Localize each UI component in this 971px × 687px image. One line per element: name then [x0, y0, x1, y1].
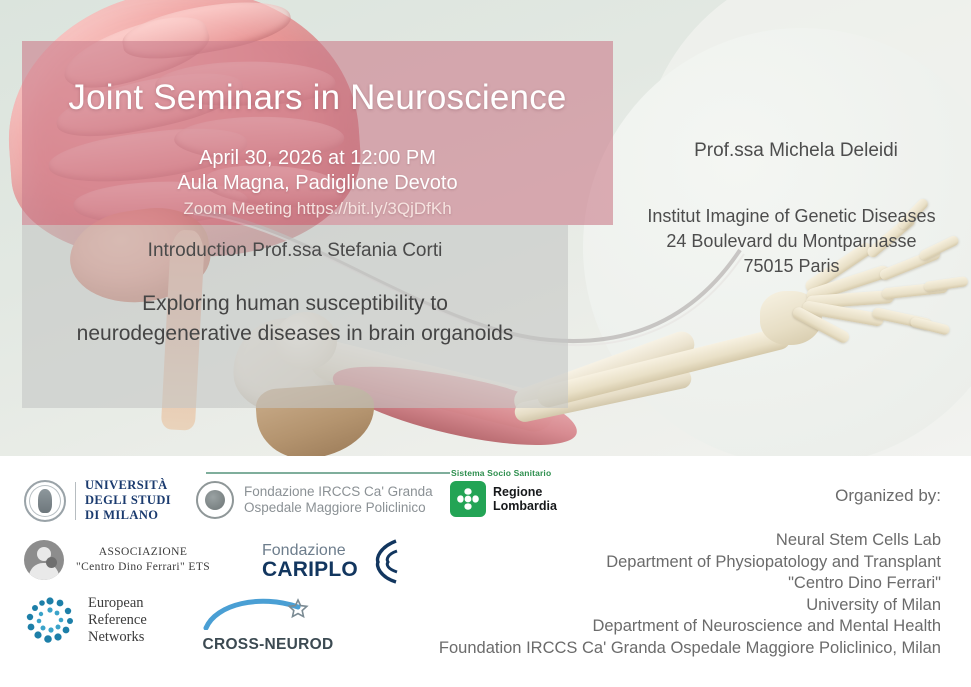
zoom-meeting-link[interactable]: Zoom Meeting https://bit.ly/3QjDfKh	[22, 199, 613, 219]
policlinico-label: Fondazione IRCCS Ca' Granda Ospedale Mag…	[244, 484, 433, 516]
ern-spiral-icon	[24, 594, 76, 646]
organized-by-label: Organized by:	[835, 486, 941, 506]
unimi-line-3: DI MILANO	[85, 508, 171, 523]
regione-lombardia-label: Regione Lombardia	[493, 485, 557, 513]
logo-centro-dino-ferrari: ASSOCIAZIONE "Centro Dino Ferrari" ETS	[24, 540, 210, 580]
hero-banner: Joint Seminars in Neuroscience April 30,…	[0, 0, 971, 456]
unimi-seal-icon	[24, 480, 66, 522]
introduction-speaker: Introduction Prof.ssa Stefania Corti	[22, 240, 568, 262]
talk-title-line-2: neurodegenerative diseases in brain orga…	[77, 322, 514, 345]
seminar-poster: Joint Seminars in Neuroscience April 30,…	[0, 0, 971, 687]
organizer-item: Department of Physiopatology and Transpl…	[321, 552, 941, 574]
unimi-label: UNIVERSITÀ DEGLI STUDI DI MILANO	[85, 478, 171, 523]
policlinico-line-2: Ospedale Maggiore Policlinico	[244, 500, 433, 516]
ern-line-3: Networks	[88, 629, 147, 646]
sistema-socio-sanitario-label: Sistema Socio Sanitario	[451, 468, 580, 478]
affiliation-line-2: 24 Boulevard du Montparnasse	[666, 231, 916, 251]
logo-cross-neurod: CROSS-NEUROD	[198, 596, 338, 654]
people-icon	[24, 540, 64, 580]
divider	[75, 482, 76, 520]
affiliation-line-3: 75015 Paris	[743, 256, 839, 276]
cross-neurod-label: CROSS-NEUROD	[198, 636, 338, 654]
footer: UNIVERSITÀ DEGLI STUDI DI MILANO Fondazi…	[0, 456, 971, 687]
unimi-line-1: UNIVERSITÀ	[85, 478, 171, 493]
cross-neurod-swoosh-icon	[198, 596, 338, 630]
page-title: Joint Seminars in Neuroscience	[22, 78, 613, 118]
organizers-list: Neural Stem Cells Lab Department of Phys…	[321, 530, 941, 659]
dino-ferrari-line-1: ASSOCIAZIONE	[76, 545, 210, 560]
talk-title: Exploring human susceptibility to neurod…	[10, 289, 580, 349]
lombardy-rose-icon	[450, 481, 486, 517]
policlinico-seal-icon	[196, 481, 234, 519]
rose-camuna-glyph	[454, 485, 482, 513]
organizer-item: Foundation IRCCS Ca' Granda Ospedale Mag…	[321, 638, 941, 660]
organizer-item: Neural Stem Cells Lab	[321, 530, 941, 552]
speaker-name: Prof.ssa Michela Deleidi	[628, 140, 964, 162]
ern-line-2: Reference	[88, 612, 147, 629]
dino-ferrari-line-2: "Centro Dino Ferrari" ETS	[76, 560, 210, 575]
speaker-affiliation: Institut Imagine of Genetic Diseases 24 …	[612, 204, 971, 279]
person-head-shape-secondary	[46, 557, 57, 568]
organizer-item: "Centro Dino Ferrari"	[321, 573, 941, 595]
organizer-item: University of Milan	[321, 595, 941, 617]
logo-fondazione-irccs-policlinico: Fondazione IRCCS Ca' Granda Ospedale Mag…	[196, 472, 452, 519]
event-venue: Aula Magna, Padiglione Devoto	[22, 172, 613, 195]
ern-line-1: European	[88, 595, 147, 612]
title-band	[22, 41, 613, 225]
logo-regione-lombardia: Sistema Socio Sanitario	[450, 468, 580, 517]
ern-label: European Reference Networks	[88, 595, 147, 646]
event-datetime: April 30, 2026 at 12:00 PM	[22, 145, 613, 172]
organizer-item: Department of Neuroscience and Mental He…	[321, 616, 941, 638]
dino-ferrari-label: ASSOCIAZIONE "Centro Dino Ferrari" ETS	[76, 545, 210, 575]
policlinico-line-1: Fondazione IRCCS Ca' Granda	[244, 484, 433, 500]
unimi-line-2: DEGLI STUDI	[85, 493, 171, 508]
logo-universita-degli-studi-di-milano: UNIVERSITÀ DEGLI STUDI DI MILANO	[24, 478, 171, 523]
affiliation-line-1: Institut Imagine of Genetic Diseases	[647, 206, 935, 226]
regione-line-1: Regione	[493, 485, 557, 499]
logo-european-reference-networks: European Reference Networks	[24, 594, 147, 646]
talk-title-line-1: Exploring human susceptibility to	[142, 292, 448, 315]
rule-line	[206, 472, 450, 474]
regione-line-2: Lombardia	[493, 499, 557, 513]
